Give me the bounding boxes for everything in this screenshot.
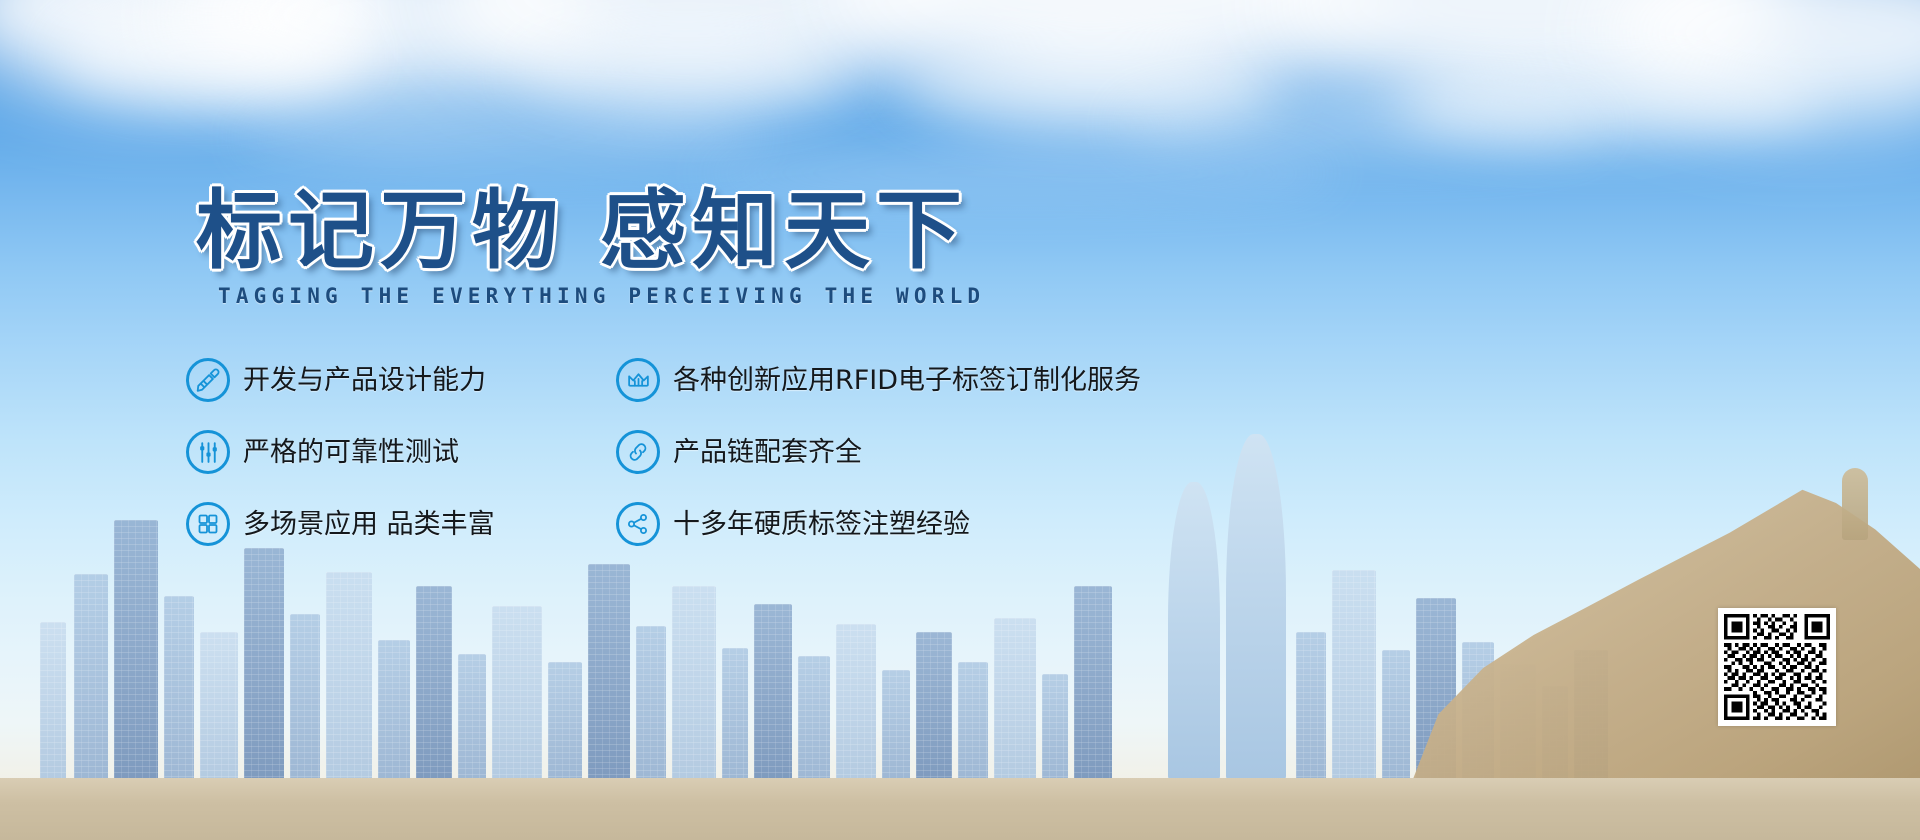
- beach-ground: [0, 778, 1920, 840]
- headline: 标记万物 感知天下: [196, 160, 968, 285]
- crown-icon: [616, 358, 660, 402]
- feature-item-multi-scenario[interactable]: 多场景应用 品类丰富: [186, 502, 616, 546]
- qr-code-image: [1724, 614, 1830, 720]
- share-nodes-icon: [616, 502, 660, 546]
- feature-item-injection-experience[interactable]: 十多年硬质标签注塑经验: [616, 502, 1306, 546]
- hill-statue: [1842, 468, 1868, 540]
- feature-label: 各种创新应用RFID电子标签订制化服务: [673, 367, 1141, 394]
- feature-row-3: 多场景应用 品类丰富 十多年硬质标签注塑经验: [186, 502, 1306, 546]
- link-chain-icon: [616, 430, 660, 474]
- sub-headline: TAGGING THE EVERYTHING PERCEIVING THE WO…: [218, 284, 985, 308]
- grid-squares-icon: [186, 502, 230, 546]
- feature-item-reliability-testing[interactable]: 严格的可靠性测试: [186, 430, 616, 474]
- ruler-pencil-icon: [186, 358, 230, 402]
- promo-banner: 标记万物 感知天下 TAGGING THE EVERYTHING PERCEIV…: [0, 0, 1920, 840]
- feature-label: 严格的可靠性测试: [243, 439, 459, 466]
- feature-label: 多场景应用 品类丰富: [243, 511, 495, 538]
- feature-row-1: 开发与产品设计能力 各种创新应用RFID电子标签订制化服务: [186, 358, 1306, 402]
- sliders-icon: [186, 430, 230, 474]
- feature-label: 产品链配套齐全: [673, 439, 862, 466]
- feature-list: 开发与产品设计能力 各种创新应用RFID电子标签订制化服务: [186, 358, 1306, 574]
- feature-row-2: 严格的可靠性测试 产品链配套齐全: [186, 430, 1306, 474]
- qr-code[interactable]: [1718, 608, 1836, 726]
- feature-label: 十多年硬质标签注塑经验: [673, 511, 970, 538]
- feature-item-development-design[interactable]: 开发与产品设计能力: [186, 358, 616, 402]
- feature-item-product-chain[interactable]: 产品链配套齐全: [616, 430, 1306, 474]
- feature-label: 开发与产品设计能力: [243, 367, 486, 394]
- feature-item-rfid-custom-service[interactable]: 各种创新应用RFID电子标签订制化服务: [616, 358, 1306, 402]
